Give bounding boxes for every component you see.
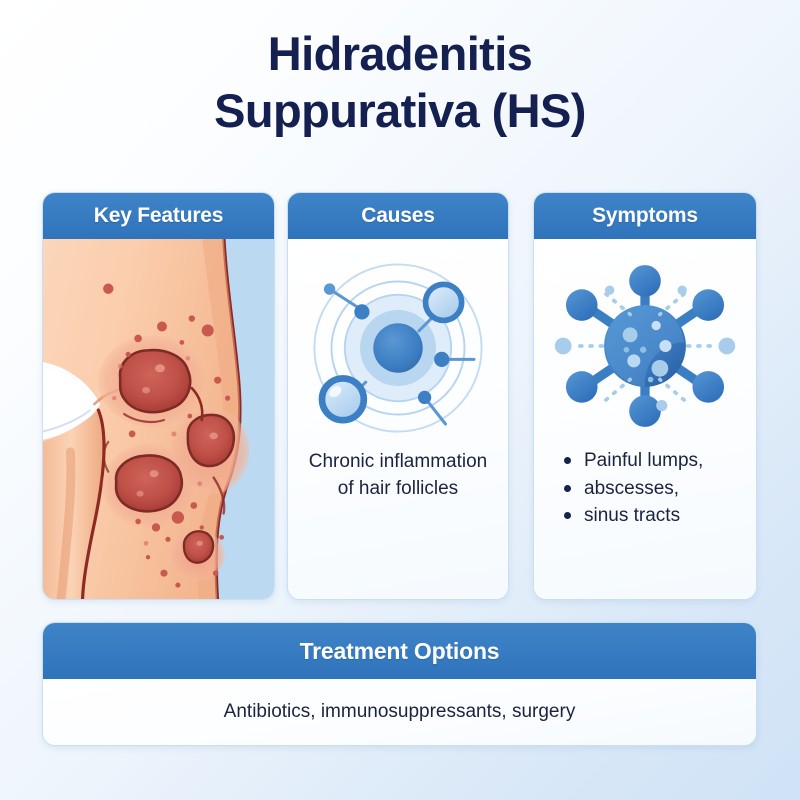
- card-body-key-features: [43, 239, 274, 599]
- card-header-symptoms: Symptoms: [534, 193, 756, 239]
- title-line-1: Hidradenitis: [0, 26, 800, 83]
- page-title: Hidradenitis Suppurativa (HS): [0, 26, 800, 140]
- card-header-causes: Causes: [288, 193, 508, 239]
- follicle-inflammation-icon: [303, 253, 493, 443]
- card-symptoms: Symptoms: [533, 192, 757, 600]
- card-header-treatment: Treatment Options: [43, 623, 756, 679]
- inflamed-cell-icon: [552, 253, 738, 439]
- list-item: Painful lumps,: [564, 447, 703, 475]
- causes-description: Chronic inflammation of hair follicles: [288, 449, 508, 503]
- list-item: sinus tracts: [564, 502, 703, 530]
- card-body-causes: Chronic inflammation of hair follicles: [288, 239, 508, 599]
- symptoms-list: Painful lumps, abscesses, sinus tracts: [546, 447, 703, 530]
- card-header-key-features: Key Features: [43, 193, 274, 239]
- card-causes: Causes: [287, 192, 509, 600]
- title-line-2: Suppurativa (HS): [0, 83, 800, 140]
- list-item: abscesses,: [564, 475, 703, 503]
- treatment-description: Antibiotics, immunosuppressants, surgery: [224, 701, 576, 723]
- card-key-features: Key Features: [42, 192, 275, 600]
- card-body-treatment: Antibiotics, immunosuppressants, surgery: [43, 679, 756, 745]
- infographic-poster: Hidradenitis Suppurativa (HS) Key Featur…: [0, 0, 800, 800]
- card-body-symptoms: Painful lumps, abscesses, sinus tracts: [534, 239, 756, 599]
- card-treatment-options: Treatment Options Antibiotics, immunosup…: [42, 622, 757, 746]
- skin-lesions-illustration: [43, 239, 274, 599]
